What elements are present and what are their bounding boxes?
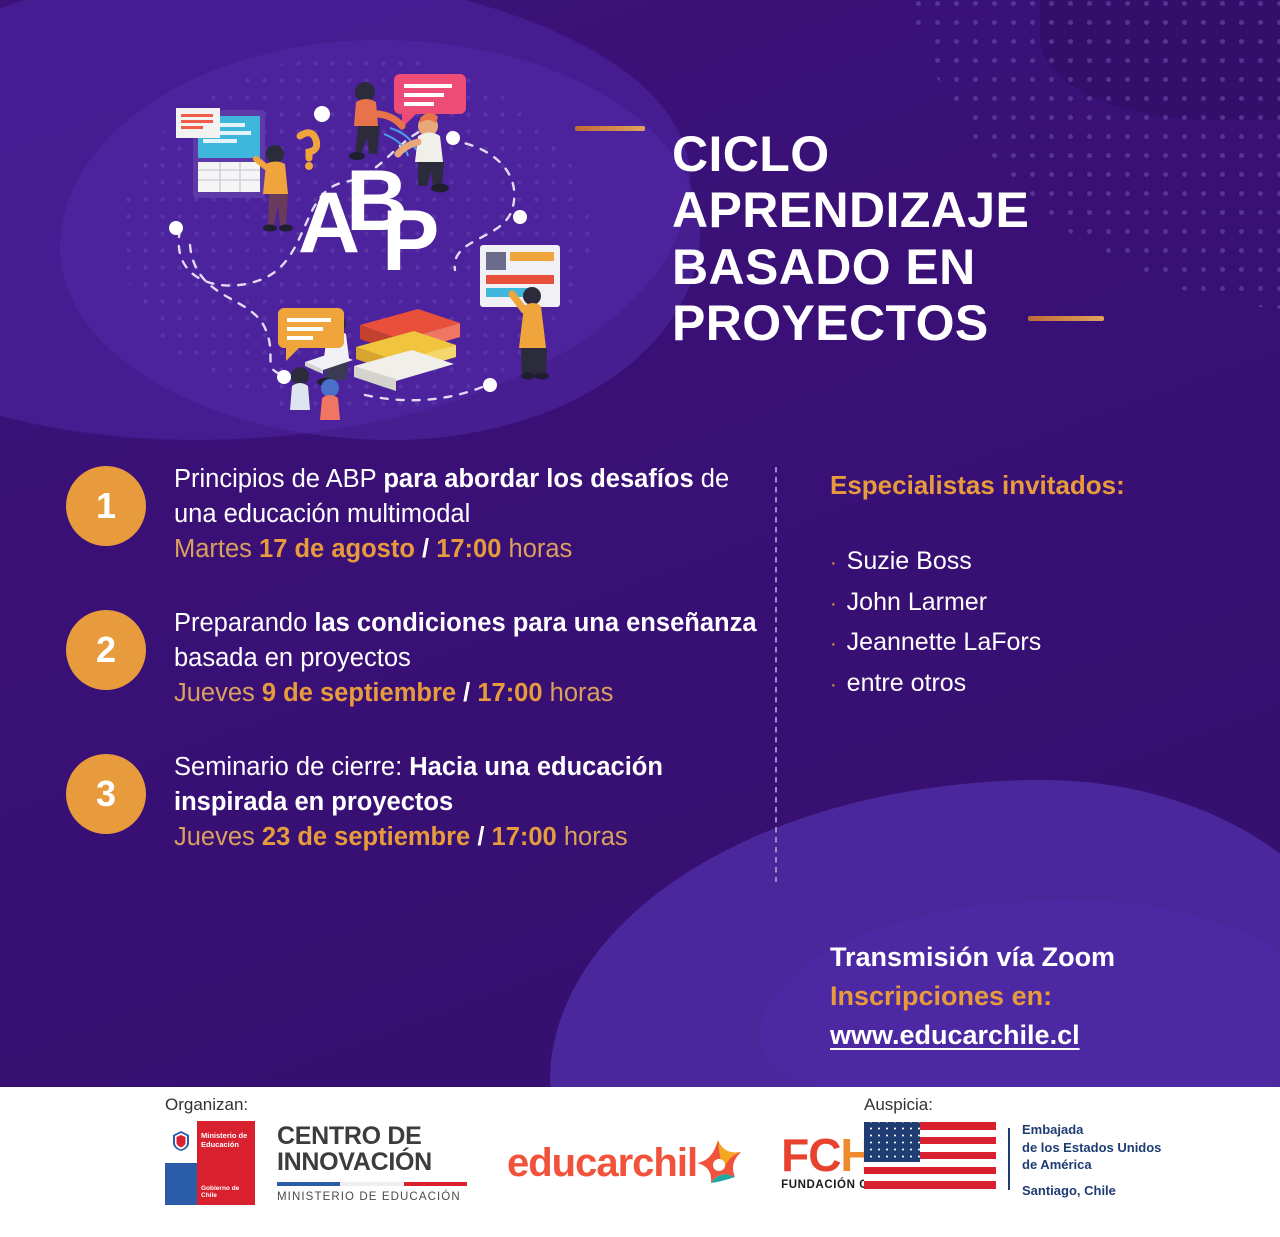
page-title: CICLO APRENDIZAJE BASADO EN PROYECTOS: [672, 126, 1142, 352]
agenda-list: 1Principios de ABP para abordar los desa…: [66, 462, 766, 894]
vertical-dashed-divider: [775, 467, 777, 882]
specialists-list: ·Suzie Boss·John Larmer·Jeannette LaFors…: [830, 541, 1250, 703]
specialists-title: Especialistas invitados:: [830, 470, 1250, 501]
registration-label: Inscripciones en:: [830, 977, 1250, 1016]
agenda-item-title: Seminario de cierre: Hacia una educación…: [174, 750, 766, 819]
agenda-item-number: 2: [66, 610, 146, 690]
centro-innovacion-line1: CENTRO DE: [277, 1123, 467, 1149]
specialist-name: Jeannette LaFors: [847, 622, 1042, 663]
educarchile-logo: educarchil: [507, 1136, 745, 1190]
abp-isometric-illustration: A B P: [150, 70, 590, 420]
agenda-item-title: Preparando las condiciones para una ense…: [174, 606, 766, 675]
specialist-name: Suzie Boss: [847, 541, 972, 582]
agenda-item-body: Principios de ABP para abordar los desaf…: [174, 462, 766, 568]
centro-innovacion-logo: CENTRO DE INNOVACIÓN MINISTERIO DE EDUCA…: [277, 1123, 467, 1204]
agenda-item: 1Principios de ABP para abordar los desa…: [66, 462, 766, 568]
agenda-item: 3Seminario de cierre: Hacia una educació…: [66, 750, 766, 856]
organizers-label: Organizan:: [165, 1095, 897, 1115]
sponsor-group: Auspicia: Embajada de los Estados Unidos: [864, 1095, 1161, 1198]
us-embassy-logo: Embajada de los Estados Unidos de Améric…: [864, 1121, 1161, 1198]
agenda-item-datetime: Martes 17 de agosto / 17:00 horas: [174, 532, 766, 568]
poster-root: A B P CICLO APRENDIZAJE BASADO EN PROYEC…: [0, 0, 1280, 1237]
broadcast-section: Transmisión vía Zoom Inscripciones en: w…: [830, 938, 1250, 1055]
tricolor-bar: [277, 1182, 467, 1186]
broadcast-line: Transmisión vía Zoom: [830, 938, 1250, 977]
sponsor-label: Auspicia:: [864, 1095, 1161, 1115]
chile-crest-icon: [169, 1129, 193, 1153]
educarchile-wordmark: educarchil: [507, 1141, 697, 1186]
minedu-line3: Gobierno de Chile: [201, 1185, 255, 1199]
header-section: A B P CICLO APRENDIZAJE BASADO EN PROYEC…: [0, 0, 1280, 440]
agenda-item-body: Seminario de cierre: Hacia una educación…: [174, 750, 766, 856]
title-line-1: CICLO: [672, 126, 1142, 183]
centro-innovacion-line3: MINISTERIO DE EDUCACIÓN: [277, 1191, 467, 1203]
bullet-icon: ·: [830, 634, 837, 654]
title-rule-left: [575, 126, 645, 131]
bullet-icon: ·: [830, 553, 837, 573]
specialist-name: John Larmer: [847, 582, 987, 623]
agenda-item-number: 3: [66, 754, 146, 834]
agenda-item-datetime: Jueves 9 de septiembre / 17:00 horas: [174, 676, 766, 712]
specialist-name: entre otros: [847, 663, 967, 704]
specialist-item: ·John Larmer: [830, 582, 1250, 623]
us-flag-icon: [864, 1122, 996, 1196]
bullet-icon: ·: [830, 675, 837, 695]
centro-innovacion-line2: INNOVACIÓN: [277, 1149, 467, 1175]
embassy-city: Santiago, Chile: [1022, 1183, 1161, 1198]
title-line-2: APRENDIZAJE: [672, 182, 1142, 239]
embassy-divider: [1008, 1128, 1010, 1190]
agenda-item-title: Principios de ABP para abordar los desaf…: [174, 462, 766, 531]
specialist-item: ·Suzie Boss: [830, 541, 1250, 582]
organizers-group: Organizan: Ministerio de Educación: [165, 1095, 897, 1205]
specialists-section: Especialistas invitados: ·Suzie Boss·Joh…: [830, 470, 1250, 703]
title-line-4: PROYECTOS: [672, 295, 1142, 352]
registration-link[interactable]: www.educarchile.cl: [830, 1020, 1080, 1050]
specialist-item: ·entre otros: [830, 663, 1250, 704]
ministerio-educacion-logo: Ministerio de Educación Gobierno de Chil…: [165, 1121, 255, 1205]
title-line-3: BASADO EN: [672, 239, 1142, 296]
footer-bar: Organizan: Ministerio de Educación: [0, 1087, 1280, 1237]
embassy-name: Embajada de los Estados Unidos de Améric…: [1022, 1121, 1161, 1174]
bullet-icon: ·: [830, 594, 837, 614]
svg-text:P: P: [382, 193, 439, 289]
agenda-item: 2Preparando las condiciones para una ens…: [66, 606, 766, 712]
flag-canton: [864, 1122, 920, 1162]
specialist-item: ·Jeannette LaFors: [830, 622, 1250, 663]
agenda-item-datetime: Jueves 23 de septiembre / 17:00 horas: [174, 820, 766, 856]
agenda-item-number: 1: [66, 466, 146, 546]
agenda-item-body: Preparando las condiciones para una ense…: [174, 606, 766, 712]
educarchile-star-icon: [691, 1136, 745, 1190]
minedu-line1: Ministerio de Educación: [201, 1131, 247, 1150]
